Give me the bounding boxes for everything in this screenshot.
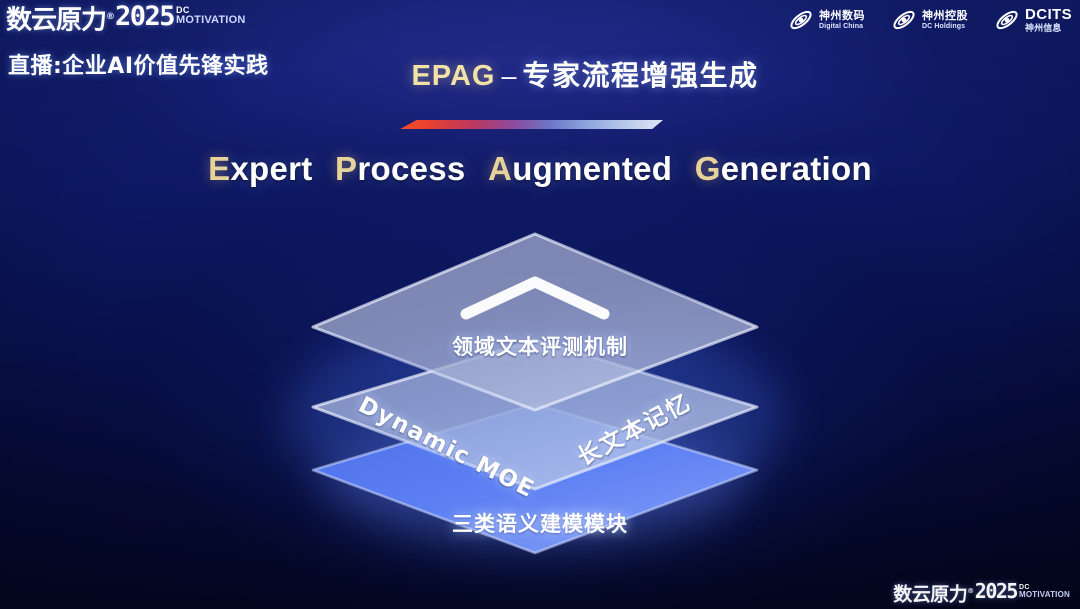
subtitle-word: Process (335, 150, 466, 188)
brand-logo: 数云原力® 2025 DC MOTIVATION (6, 4, 245, 34)
partner-name-cn: 神州数码 (819, 10, 865, 21)
stack-layer-top-label: 领域文本评测机制 (0, 331, 1080, 361)
registered-mark: ® (106, 12, 114, 22)
partner-logo-row: 神州数码 Digital China 神州控股 DC Holdings (788, 7, 1072, 33)
brand-year: 2025 (115, 4, 174, 30)
partner-name-en: Digital China (819, 23, 865, 30)
swirl-logo-icon (994, 7, 1020, 33)
slide-canvas: 数云原力® 2025 DC MOTIVATION 直播:企业AI价值先锋实践 神… (0, 0, 1080, 609)
partner-name-cn: 神州控股 (922, 10, 968, 21)
swirl-logo-icon (891, 7, 917, 33)
partner-name-cn: 神州信息 (1025, 24, 1072, 33)
gradient-divider (395, 120, 663, 129)
brand-name-cn: 数云原力® (6, 4, 114, 34)
subtitle-word: Expert (208, 150, 313, 188)
partner-logo-digital-china: 神州数码 Digital China (788, 7, 865, 33)
swirl-logo-icon (788, 7, 814, 33)
watermark-year: 2025 (975, 582, 1017, 601)
subtitle-expansion: Expert Process Augmented Generation (0, 150, 1080, 188)
watermark-dc-motivation: DC MOTIVATION (1019, 584, 1070, 599)
watermark-motivation-label: MOTIVATION (1019, 591, 1070, 599)
partner-logo-dc-holdings: 神州控股 DC Holdings (891, 7, 968, 33)
subtitle-word: Generation (695, 150, 872, 188)
partner-logo-dcits: DCITS 神州信息 (994, 7, 1072, 33)
stack-layer-middle-label-right: 长文本记忆 (570, 383, 696, 472)
footer-watermark: 数云原力® 2025 DC MOTIVATION (893, 582, 1070, 604)
stack-layer-bottom-label: 三类语义建模模块 (0, 508, 1080, 538)
chevron-up-icon (458, 272, 612, 322)
title-dash: – (502, 61, 517, 91)
brand-dc-motivation: DC MOTIVATION (176, 6, 245, 26)
live-stream-title: 直播:企业AI价值先锋实践 (8, 48, 269, 80)
title-acronym: EPAG (411, 60, 495, 92)
registered-mark: ® (967, 587, 974, 595)
partner-name-en: DCITS (1025, 7, 1072, 22)
stack-layer-middle-label-left: Dynamic MOE (354, 392, 539, 503)
brand-motivation-label: MOTIVATION (176, 15, 245, 26)
subtitle-word: Augmented (488, 150, 672, 188)
title-chinese: 专家流程增强生成 (523, 59, 759, 92)
watermark-name-cn: 数云原力® (893, 582, 974, 604)
partner-name-en: DC Holdings (922, 23, 968, 30)
